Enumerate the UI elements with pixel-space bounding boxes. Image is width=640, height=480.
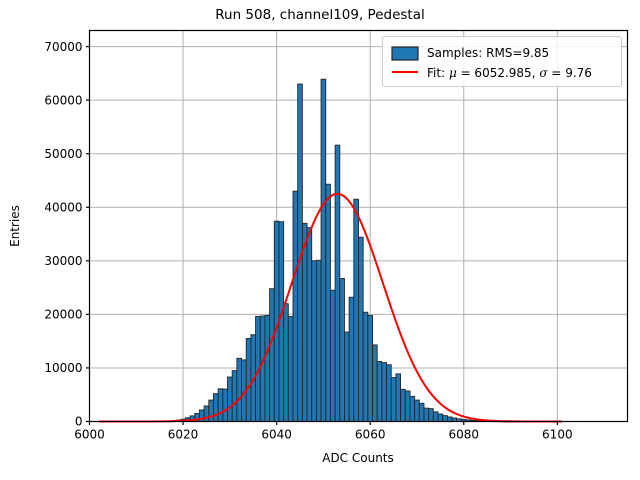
y-tick-label: 40000: [44, 200, 82, 214]
histogram-bar: [232, 371, 237, 422]
histogram-bar: [312, 261, 317, 422]
legend-samples-label: Samples: RMS=9.85: [427, 46, 549, 60]
histogram-bar: [391, 378, 396, 422]
histogram-bar: [429, 409, 434, 422]
histogram-bar: [443, 416, 448, 422]
x-axis-label: ADC Counts: [322, 451, 394, 465]
histogram-bar: [293, 191, 298, 421]
y-axis-label: Entries: [8, 205, 22, 247]
y-tick-label: 0: [75, 415, 83, 429]
histogram-bar: [307, 228, 312, 422]
x-tick-label: 6000: [74, 428, 105, 442]
histogram-bar: [302, 223, 307, 421]
histogram-bar: [405, 391, 410, 422]
x-tick-label: 6020: [168, 428, 199, 442]
histogram-bar: [326, 184, 331, 421]
legend[interactable]: Samples: RMS=9.85 Fit: μ = 6052.985, σ =…: [383, 37, 622, 87]
legend-fit-suffix: = 9.76: [548, 66, 592, 80]
histogram-bar: [260, 316, 265, 422]
legend-samples-swatch: [392, 47, 418, 60]
histogram-bar: [354, 199, 359, 421]
y-axis-ticks: 010000200003000040000500006000070000: [44, 40, 89, 429]
histogram-bar: [204, 406, 209, 422]
histogram-bar: [237, 358, 242, 421]
histogram-bar: [410, 396, 415, 421]
histogram-bar: [359, 237, 364, 421]
x-tick-label: 6060: [355, 428, 386, 442]
histogram-bar: [363, 312, 368, 421]
histogram-bar: [321, 79, 326, 421]
histogram-bar: [335, 145, 340, 421]
figure-canvas: Run 508, channel109, Pedestal 6000602060…: [0, 0, 640, 480]
legend-fit-mid: = 6052.985,: [457, 66, 540, 80]
histogram-bar: [213, 394, 218, 422]
histogram-bar: [340, 278, 345, 421]
histogram-bar: [265, 315, 270, 421]
y-tick-label: 50000: [44, 147, 82, 161]
y-tick-label: 30000: [44, 254, 82, 268]
histogram-bar: [270, 289, 275, 422]
histogram-bar: [433, 412, 438, 422]
legend-fit-prefix: Fit:: [427, 66, 449, 80]
histogram-bar: [246, 338, 251, 421]
histogram-bar: [223, 389, 228, 421]
histogram-bar: [415, 400, 420, 421]
y-tick-label: 10000: [44, 361, 82, 375]
histogram-bar: [218, 389, 223, 422]
histogram-bar: [344, 332, 349, 421]
histogram-bar: [209, 400, 214, 421]
histogram-bar: [438, 414, 443, 421]
y-tick-label: 70000: [44, 40, 82, 54]
histogram-bar: [316, 260, 321, 421]
histogram-bar: [447, 417, 452, 422]
y-tick-label: 20000: [44, 308, 82, 322]
histogram-bar: [368, 315, 373, 421]
histogram-bar: [419, 403, 424, 421]
histogram-bar: [387, 365, 392, 422]
histogram-bar: [349, 297, 354, 421]
histogram-bar: [373, 345, 378, 422]
histogram-bar: [401, 389, 406, 421]
histogram-bars: [171, 79, 522, 422]
x-axis-ticks: 600060206040606060806100: [74, 422, 572, 442]
histogram-bar: [330, 290, 335, 421]
x-tick-label: 6040: [261, 428, 292, 442]
legend-fit-label: Fit: μ = 6052.985, σ = 9.76: [427, 66, 592, 80]
histogram-bar: [284, 304, 289, 422]
x-tick-label: 6100: [542, 428, 573, 442]
x-tick-label: 6080: [448, 428, 479, 442]
histogram-bar: [424, 408, 429, 421]
histogram-bar: [382, 363, 387, 422]
y-tick-label: 60000: [44, 93, 82, 107]
histogram-bar: [396, 374, 401, 422]
histogram-bar: [377, 362, 382, 422]
histogram-bar: [288, 317, 293, 422]
legend-fit-mu: μ: [449, 66, 457, 80]
plot-area: 600060206040606060806100 010000200003000…: [0, 0, 640, 480]
histogram-bar: [228, 377, 233, 421]
